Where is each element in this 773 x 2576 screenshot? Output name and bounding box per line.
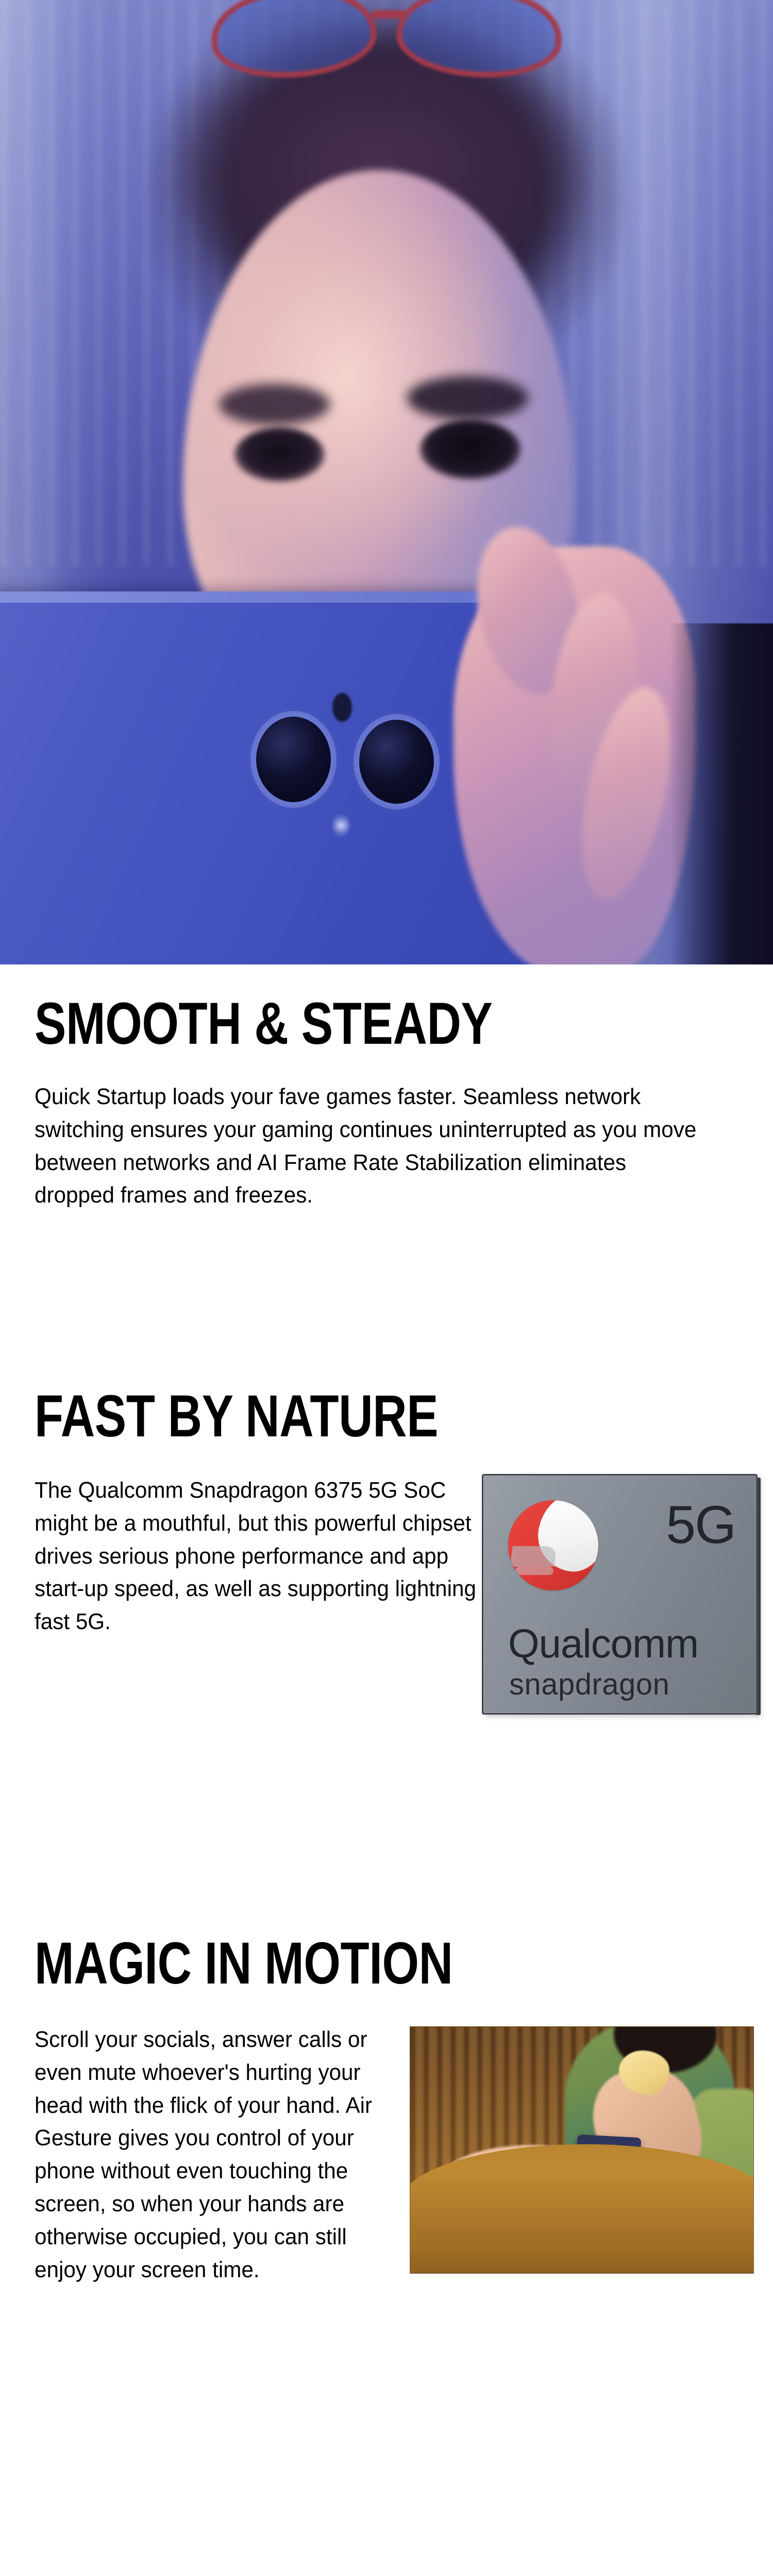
sunglasses-lens-left: [208, 0, 379, 83]
magic-content-row: Scroll your socials, answer calls or eve…: [35, 2023, 756, 2286]
snapdragon-logo-tail: [510, 1546, 557, 1567]
chip-5g-label: 5G: [666, 1498, 735, 1552]
sunglasses-lens-right: [395, 0, 564, 81]
section-heading-magic: MAGIC IN MOTION: [35, 1934, 612, 1993]
eye-right: [420, 420, 520, 479]
sunglasses-icon: [206, 0, 587, 100]
hero-shadow-edge: [670, 623, 773, 964]
section-heading-fast: FAST BY NATURE: [35, 1387, 612, 1446]
chip-body: 5G Qualcomm snapdragon: [482, 1474, 758, 1715]
phone-camera-lens-2: [359, 720, 434, 804]
phone-sensor-dot: [332, 693, 352, 722]
snapdragon-logo-tail-2: [515, 1567, 553, 1575]
snapdragon-logo-icon: [508, 1500, 598, 1590]
snapdragon-chip-image: 5G Qualcomm snapdragon: [482, 1474, 758, 1716]
hero-image: [0, 0, 773, 964]
chip-right-edge: [756, 1478, 761, 1715]
section-magic-in-motion: MAGIC IN MOTION: [35, 1934, 756, 2286]
fast-content-row: 5G Qualcomm snapdragon The Qualcomm Snap…: [35, 1474, 756, 1638]
eyebrow-right: [407, 376, 528, 420]
section-fast-by-nature: FAST BY NATURE 5G Qualcomm snapdragon Th…: [35, 1387, 756, 1638]
chip-product-label: snapdragon: [509, 1670, 669, 1700]
eye-left: [234, 428, 325, 482]
chip-brand-label: Qualcomm: [508, 1623, 698, 1664]
section-body-fast: The Qualcomm Snapdragon 6375 5G SoC migh…: [35, 1474, 480, 1638]
section-body-magic: Scroll your socials, answer calls or eve…: [35, 2023, 727, 2286]
eyebrow-left: [219, 384, 330, 425]
product-feature-page: SMOOTH & STEADY Quick Startup loads your…: [0, 0, 773, 2576]
section-body-smooth: Quick Startup loads your fave games fast…: [35, 1080, 697, 1212]
section-heading-smooth: SMOOTH & STEADY: [35, 994, 603, 1054]
section-smooth-and-steady: SMOOTH & STEADY Quick Startup loads your…: [35, 994, 746, 1212]
phone-camera-flash: [332, 814, 350, 837]
phone-camera-lens-1: [256, 717, 331, 802]
